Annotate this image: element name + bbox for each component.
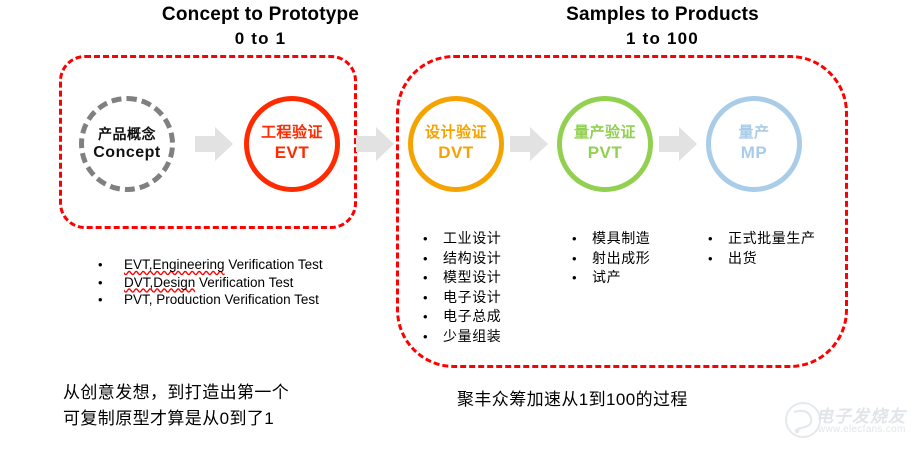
- stage-pvt-label-en: PVT: [588, 143, 623, 164]
- stage-dvt-label-en: DVT: [438, 143, 474, 164]
- watermark: 电子发烧友 www.elecfans.com: [784, 398, 910, 448]
- list-item: •工业设计: [423, 229, 501, 249]
- task-label: 结构设计: [443, 249, 501, 269]
- acronym-definition-list: • EVT,Engineering Verification Test • DV…: [98, 256, 323, 309]
- header-concept-to-prototype: Concept to Prototype 0 to 1: [68, 3, 453, 51]
- caption-right: 聚丰众筹加速从1到100的过程: [457, 387, 688, 413]
- list-item: • PVT, Production Verification Test: [98, 291, 323, 309]
- arrow-right-icon: [510, 127, 548, 161]
- task-list-mp: •正式批量生产 •出货: [708, 229, 816, 268]
- stage-circle-mp[interactable]: 量产 MP: [706, 96, 802, 192]
- list-item: •试产: [572, 268, 650, 288]
- bullet-icon: •: [423, 268, 443, 288]
- acronym-text-evt: EVT,Engineering Verification Test: [124, 256, 323, 274]
- caption-left: 从创意发想，到打造出第一个 可复制原型才算是从0到了1: [63, 380, 289, 432]
- acronym-rest: Verification Test: [225, 257, 323, 272]
- watermark-logo-icon: [784, 398, 910, 448]
- bullet-icon: •: [708, 249, 728, 269]
- header-right-range: 1 to 100: [470, 27, 855, 51]
- stage-evt-label-cn: 工程验证: [261, 124, 323, 142]
- header-left-range: 0 to 1: [68, 27, 453, 51]
- stage-concept-label-en: Concept: [93, 143, 161, 163]
- list-item: •模具制造: [572, 229, 650, 249]
- acronym-rest: Verification Test: [195, 275, 293, 290]
- arrow-right-icon: [659, 127, 697, 161]
- spellcheck-underlined-text: EVT,Engineering: [124, 257, 225, 272]
- bullet-icon: •: [423, 307, 443, 327]
- header-right-title: Samples to Products: [566, 4, 759, 25]
- bullet-icon: •: [572, 268, 592, 288]
- watermark-text-cn: 电子发烧友: [816, 402, 906, 427]
- stage-mp-label-cn: 量产: [738, 124, 769, 142]
- bullet-icon: •: [98, 291, 124, 309]
- stage-dvt-label-cn: 设计验证: [425, 124, 487, 142]
- task-list-pvt: •模具制造 •射出成形 •试产: [572, 229, 650, 288]
- spellcheck-underlined-text: DVT,Design: [124, 275, 195, 290]
- task-label: 出货: [728, 249, 757, 269]
- diagram-canvas: Concept to Prototype 0 to 1 Samples to P…: [0, 0, 916, 451]
- header-left-title: Concept to Prototype: [162, 4, 359, 25]
- bullet-icon: •: [572, 249, 592, 269]
- task-label: 正式批量生产: [728, 229, 816, 249]
- bullet-icon: •: [708, 229, 728, 249]
- watermark-url: www.elecfans.com: [818, 424, 906, 435]
- acronym-text-pvt: PVT, Production Verification Test: [124, 291, 319, 309]
- list-item: •少量组装: [423, 327, 501, 347]
- bullet-icon: •: [572, 229, 592, 249]
- list-item: • DVT,Design Verification Test: [98, 274, 323, 292]
- list-item: •射出成形: [572, 249, 650, 269]
- task-label: 射出成形: [592, 249, 650, 269]
- stage-evt-label-en: EVT: [275, 143, 310, 164]
- stage-circle-evt[interactable]: 工程验证 EVT: [244, 96, 340, 192]
- bullet-icon: •: [423, 288, 443, 308]
- task-label: 模具制造: [592, 229, 650, 249]
- task-label: 电子设计: [443, 288, 501, 308]
- list-item: • EVT,Engineering Verification Test: [98, 256, 323, 274]
- task-label: 模型设计: [443, 268, 501, 288]
- bullet-icon: •: [423, 229, 443, 249]
- list-item: •模型设计: [423, 268, 501, 288]
- list-item: •正式批量生产: [708, 229, 816, 249]
- acronym-text-dvt: DVT,Design Verification Test: [124, 274, 293, 292]
- stage-pvt-label-cn: 量产验证: [574, 124, 636, 142]
- bullet-icon: •: [98, 274, 124, 292]
- bullet-icon: •: [98, 256, 124, 274]
- arrow-right-icon: [356, 127, 394, 161]
- stage-concept-label-cn: 产品概念: [98, 126, 156, 143]
- stage-circle-dvt[interactable]: 设计验证 DVT: [408, 96, 504, 192]
- list-item: •电子总成: [423, 307, 501, 327]
- stage-circle-concept[interactable]: 产品概念 Concept: [79, 96, 175, 192]
- caption-right-line1: 聚丰众筹加速从1到100的过程: [457, 387, 688, 413]
- stage-circle-pvt[interactable]: 量产验证 PVT: [557, 96, 653, 192]
- caption-left-line1: 从创意发想，到打造出第一个: [63, 380, 289, 406]
- header-samples-to-products: Samples to Products 1 to 100: [470, 3, 855, 51]
- list-item: •出货: [708, 249, 816, 269]
- bullet-icon: •: [423, 249, 443, 269]
- task-list-dvt: •工业设计 •结构设计 •模型设计 •电子设计 •电子总成 •少量组装: [423, 229, 501, 346]
- list-item: •结构设计: [423, 249, 501, 269]
- arrow-right-icon: [195, 127, 233, 161]
- task-label: 电子总成: [443, 307, 501, 327]
- caption-left-line2: 可复制原型才算是从0到了1: [63, 406, 289, 432]
- task-label: 少量组装: [443, 327, 501, 347]
- bullet-icon: •: [423, 327, 443, 347]
- list-item: •电子设计: [423, 288, 501, 308]
- stage-mp-label-en: MP: [741, 143, 768, 164]
- task-label: 试产: [592, 268, 621, 288]
- task-label: 工业设计: [443, 229, 501, 249]
